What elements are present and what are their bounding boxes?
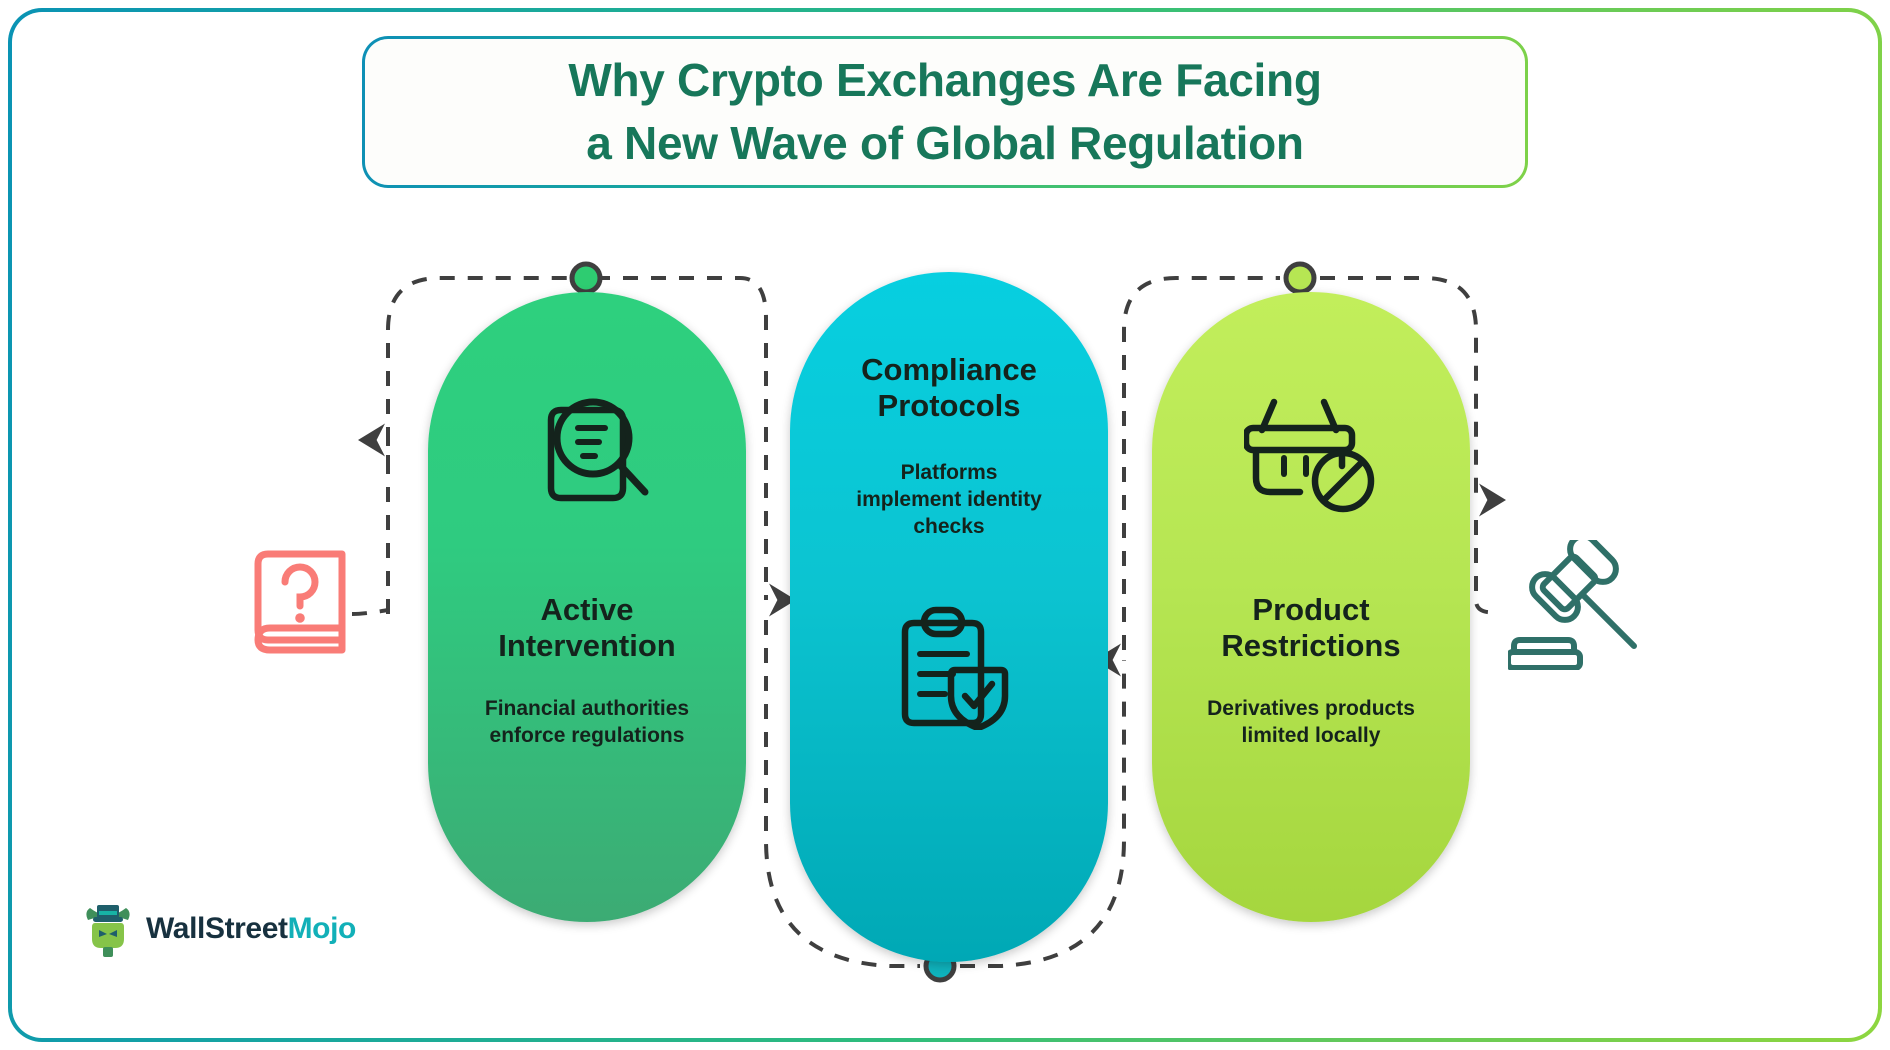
card-compliance-protocols[interactable]: Compliance Protocols Platforms implement… [790, 272, 1108, 962]
card-title: Product Restrictions [1221, 592, 1400, 665]
card-product-restrictions[interactable]: Product Restrictions Derivatives product… [1152, 292, 1470, 922]
logo-text: WallStreetMojo [146, 912, 356, 946]
node-card3 [1286, 264, 1314, 292]
node-card1 [572, 264, 600, 292]
wallstreetmojo-logo[interactable]: WallStreetMojo [82, 900, 356, 958]
basket-blocked-icon [1244, 394, 1378, 514]
card-description: Platforms implement identity checks [856, 459, 1042, 541]
gavel-icon [1508, 540, 1646, 675]
logo-text-secondary: Mojo [288, 912, 356, 945]
card-title: Active Intervention [498, 592, 675, 665]
card-title: Compliance Protocols [861, 352, 1037, 425]
logo-text-primary: WallStreet [146, 912, 288, 945]
card-description: Financial authorities enforce regulation… [485, 695, 689, 750]
clipboard-shield-check-icon [887, 604, 1011, 730]
book-question-icon [242, 542, 354, 667]
card-active-intervention[interactable]: Active Intervention Financial authoritie… [428, 292, 746, 922]
wallstreetmojo-bull-icon [82, 900, 134, 958]
card-description: Derivatives products limited locally [1207, 695, 1415, 750]
infographic-canvas: Why Crypto Exchanges Are Facing a New Wa… [0, 0, 1890, 1050]
document-search-icon [521, 394, 653, 514]
connector-left-entry [352, 610, 388, 614]
connector-right-exit [1476, 520, 1496, 612]
